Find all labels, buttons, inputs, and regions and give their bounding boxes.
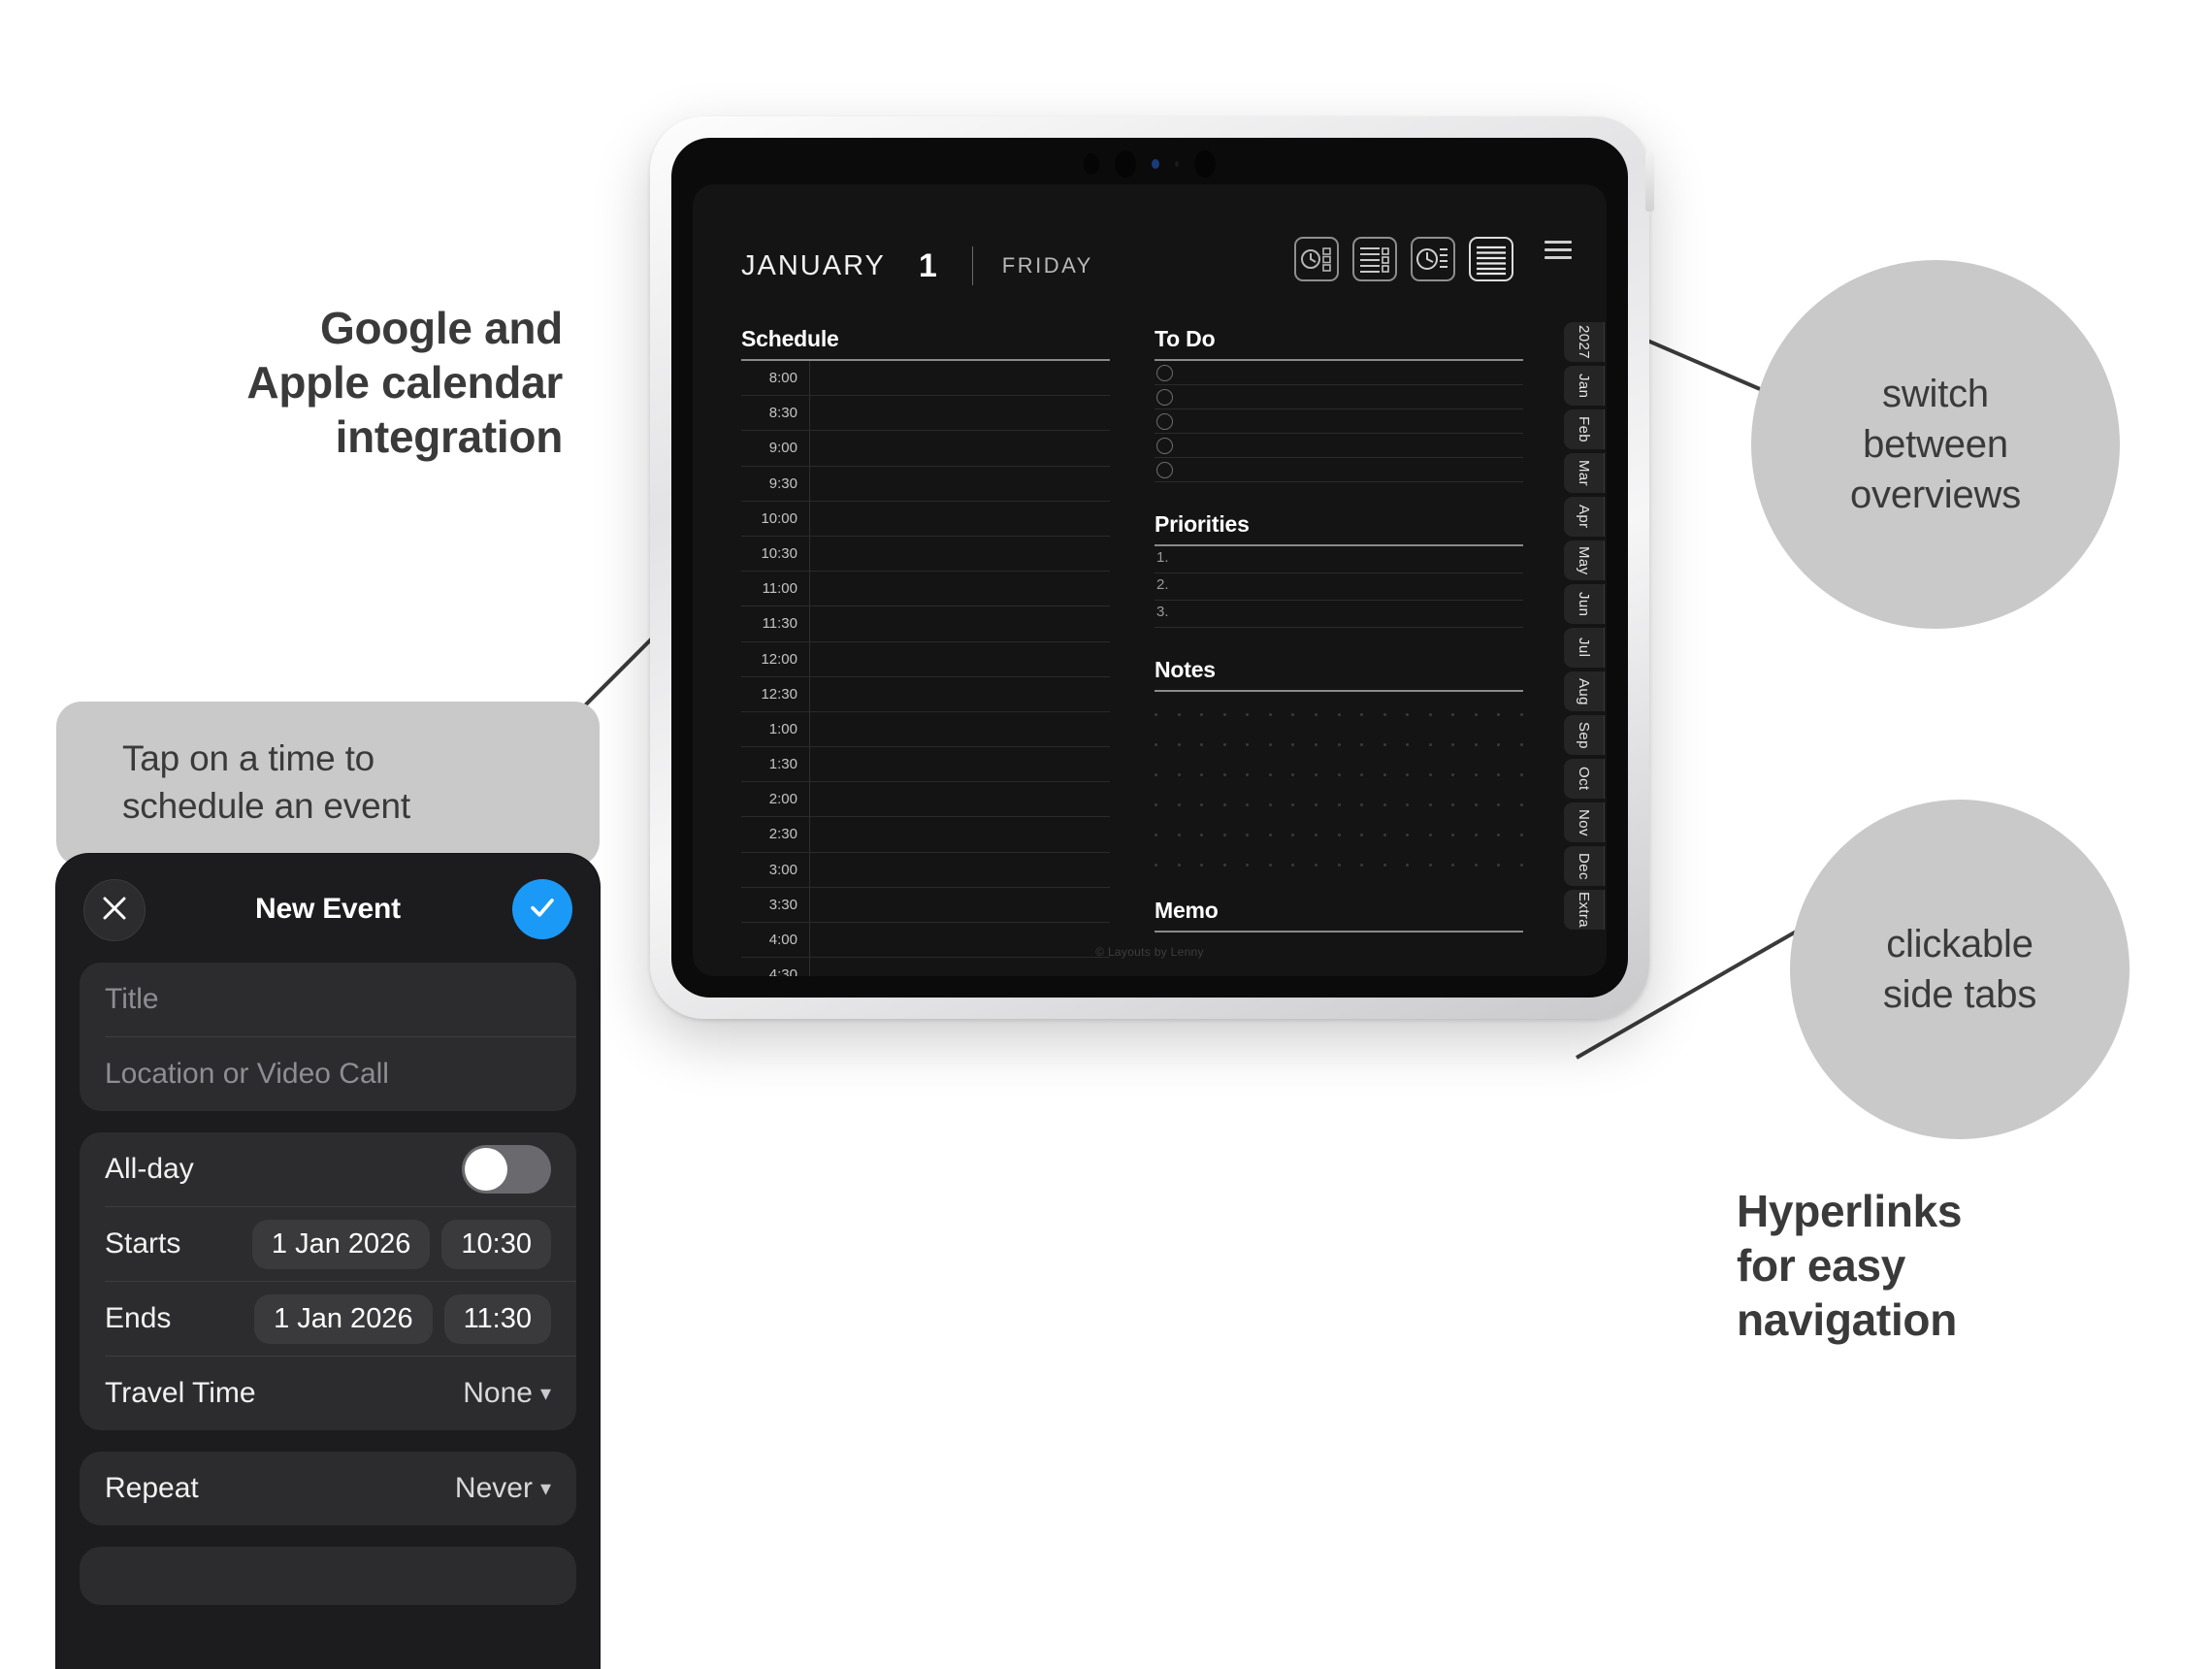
grid-dot	[1246, 773, 1249, 776]
side-tab-feb[interactable]: Feb	[1564, 409, 1605, 449]
grid-dot	[1429, 834, 1432, 836]
hamburger-menu-icon[interactable]	[1545, 241, 1572, 264]
repeat-label: Repeat	[105, 1472, 199, 1505]
schedule-row[interactable]: 2:30	[741, 817, 1110, 852]
starts-date-chip[interactable]: 1 Jan 2026	[252, 1220, 431, 1269]
all-day-row[interactable]: All-day	[80, 1132, 576, 1206]
grid-dot	[1155, 803, 1157, 806]
new-event-sheet: New Event Title Location or Video Call A…	[56, 854, 600, 1669]
all-day-label: All-day	[105, 1153, 194, 1186]
divider	[809, 606, 810, 640]
grid-dot	[1338, 713, 1341, 716]
schedule-row[interactable]: 11:30	[741, 606, 1110, 641]
grid-dot	[1383, 713, 1386, 716]
camera-lens-icon	[1194, 150, 1216, 178]
callout-tap-on-time-text: Tap on a time to schedule an event	[122, 735, 600, 830]
schedule-row[interactable]: 3:30	[741, 888, 1110, 923]
grid-dot	[1178, 743, 1181, 746]
schedule-title: Schedule	[741, 326, 1110, 352]
camera-lens-icon	[1115, 150, 1136, 178]
grid-dot	[1429, 803, 1432, 806]
memo-section: Memo	[1155, 898, 1523, 976]
schedule-time-label: 12:30	[741, 686, 797, 703]
grid-dot	[1451, 713, 1454, 716]
travel-time-label: Travel Time	[105, 1377, 256, 1410]
grid-dot	[1475, 864, 1478, 867]
priority-row[interactable]: 3.	[1155, 601, 1523, 628]
divider	[809, 677, 810, 711]
camera-lens-icon	[1084, 153, 1099, 175]
schedule-row[interactable]: 2:00	[741, 782, 1110, 817]
toggle-knob	[465, 1148, 507, 1191]
divider	[809, 747, 810, 781]
lines-view-icon[interactable]	[1469, 237, 1513, 281]
side-tab-label: Sep	[1576, 722, 1592, 749]
todo-title: To Do	[1155, 326, 1523, 352]
grid-dot	[1178, 713, 1181, 716]
all-day-toggle[interactable]	[462, 1145, 551, 1194]
grid-dot	[1155, 773, 1157, 776]
schedule-time-label: 12:00	[741, 651, 797, 668]
divider	[809, 782, 810, 816]
checkbox-circle-icon[interactable]	[1156, 438, 1173, 454]
divider	[809, 431, 810, 465]
grid-dot	[1269, 834, 1272, 836]
divider	[809, 467, 810, 501]
schedule-time-label: 10:30	[741, 545, 797, 562]
grid-dot	[1178, 864, 1181, 867]
page-month: JANUARY	[741, 250, 886, 282]
page-footer: © Layouts by Lenny	[693, 945, 1607, 959]
schedule-time-label: 2:00	[741, 791, 797, 807]
schedule-time-label: 10:00	[741, 510, 797, 527]
grid-dot	[1338, 773, 1341, 776]
grid-dot	[1451, 773, 1454, 776]
location-input[interactable]: Location or Video Call	[80, 1037, 576, 1111]
schedule-row[interactable]: 4:30	[741, 958, 1110, 976]
todo-section: To Do	[1155, 326, 1523, 482]
side-tab-apr[interactable]: Apr	[1564, 497, 1605, 537]
grid-dot	[1200, 743, 1203, 746]
grid-dot	[1406, 743, 1409, 746]
side-tab-label: Mar	[1576, 460, 1592, 486]
side-tab-label: Aug	[1576, 678, 1592, 705]
grid-dot	[1291, 864, 1294, 867]
grid-dot	[1155, 864, 1157, 867]
grid-dot	[1520, 713, 1523, 716]
tablet-screen: JANUARY 1 FRIDAY	[671, 138, 1628, 998]
clock-lines-view-icon[interactable]	[1411, 237, 1455, 281]
headline-hyperlinks: Hyperlinks for easy navigation	[1737, 1184, 2183, 1347]
travel-time-text: None	[463, 1377, 533, 1410]
side-tab-2027[interactable]: 2027	[1564, 322, 1605, 362]
priority-number: 3.	[1156, 604, 1169, 620]
planner-page: JANUARY 1 FRIDAY	[693, 184, 1607, 976]
priority-number: 2.	[1156, 576, 1169, 593]
grid-dot	[1429, 773, 1432, 776]
grid-dot	[1315, 743, 1317, 746]
schedule-time-label: 9:30	[741, 475, 797, 492]
grid-dot	[1223, 713, 1226, 716]
side-tab-label: Extra	[1576, 892, 1592, 928]
dot-grid-row	[1155, 864, 1523, 867]
ends-label: Ends	[105, 1302, 171, 1335]
divider	[809, 888, 810, 922]
repeat-value[interactable]: Never ▾	[455, 1472, 551, 1505]
dot-grid-row	[1155, 773, 1523, 776]
grid-dot	[1223, 773, 1226, 776]
grid-dot	[1475, 803, 1478, 806]
checkbox-circle-icon[interactable]	[1156, 462, 1173, 478]
divider	[809, 853, 810, 887]
schedule-time-label: 4:30	[741, 966, 797, 976]
grid-dot	[1246, 713, 1249, 716]
divider	[809, 502, 810, 536]
schedule-time-label: 8:00	[741, 370, 797, 386]
side-tab-jan[interactable]: Jan	[1564, 366, 1605, 406]
divider	[809, 361, 810, 395]
schedule-row[interactable]: 3:00	[741, 853, 1110, 888]
grid-dot	[1360, 803, 1363, 806]
divider	[809, 642, 810, 676]
divider	[809, 537, 810, 571]
divider	[1155, 690, 1523, 692]
side-tab-label: May	[1576, 546, 1592, 575]
side-tab-strip: 2027JanFebMarAprMayJunJulAugSepOctNovDec…	[1564, 322, 1605, 930]
grid-dot	[1178, 834, 1181, 836]
grid-dot	[1246, 803, 1249, 806]
grid-dot	[1315, 713, 1317, 716]
travel-time-value[interactable]: None ▾	[463, 1377, 551, 1410]
grid-dot	[1360, 834, 1363, 836]
schedule-row[interactable]: 9:30	[741, 467, 1110, 502]
notes-title: Notes	[1155, 657, 1523, 683]
divider	[809, 712, 810, 746]
schedule-time-label: 3:00	[741, 862, 797, 878]
promo-canvas: Google and Apple calendar integration Ta…	[0, 0, 2212, 1659]
notes-section: Notes	[1155, 657, 1523, 898]
priorities-section: Priorities 1.2.3.	[1155, 511, 1523, 628]
grid-dot	[1451, 864, 1454, 867]
repeat-row[interactable]: Repeat Never ▾	[80, 1452, 576, 1525]
grid-dot	[1223, 864, 1226, 867]
right-column: To Do Priorities 1.2.3. Notes	[1155, 326, 1523, 933]
clock-blocks-view-icon[interactable]	[1294, 237, 1339, 281]
callout-clickable-tabs: clickable side tabs	[1790, 800, 2130, 1139]
schedule-row[interactable]: 12:00	[741, 642, 1110, 677]
dot-grid-row	[1155, 743, 1523, 746]
grid-dot	[1178, 773, 1181, 776]
grid-dot	[1269, 773, 1272, 776]
todo-row[interactable]	[1155, 434, 1523, 458]
grid-dot	[1291, 803, 1294, 806]
grid-dot	[1475, 773, 1478, 776]
schedule-row[interactable]: 9:00	[741, 431, 1110, 466]
side-tab-label: Jun	[1576, 592, 1592, 616]
side-tab-label: 2027	[1576, 325, 1592, 359]
grid-dot	[1291, 713, 1294, 716]
side-tab-jun[interactable]: Jun	[1564, 584, 1605, 624]
page-weekday: FRIDAY	[1002, 253, 1093, 278]
grid-dot	[1497, 834, 1500, 836]
side-tab-nov[interactable]: Nov	[1564, 802, 1605, 842]
tablet-side-button[interactable]	[1645, 151, 1654, 212]
side-tab-extra[interactable]: Extra	[1564, 890, 1605, 930]
grid-dot	[1269, 864, 1272, 867]
grid-dot	[1475, 743, 1478, 746]
event-text-card: Title Location or Video Call	[80, 963, 576, 1111]
starts-row[interactable]: Starts 1 Jan 2026 10:30	[80, 1207, 576, 1281]
grid-dot	[1360, 773, 1363, 776]
title-input[interactable]: Title	[80, 963, 576, 1036]
checklist-view-icon[interactable]	[1352, 237, 1397, 281]
confirm-button[interactable]	[512, 879, 572, 939]
todo-row[interactable]	[1155, 409, 1523, 434]
grid-dot	[1520, 773, 1523, 776]
grid-dot	[1451, 803, 1454, 806]
grid-dot	[1200, 864, 1203, 867]
grid-dot	[1383, 864, 1386, 867]
starts-label: Starts	[105, 1227, 180, 1260]
schedule-time-label: 1:00	[741, 721, 797, 737]
grid-dot	[1520, 803, 1523, 806]
grid-dot	[1338, 834, 1341, 836]
schedule-row[interactable]: 8:30	[741, 396, 1110, 431]
grid-dot	[1429, 713, 1432, 716]
grid-dot	[1338, 864, 1341, 867]
starts-time-chip[interactable]: 10:30	[441, 1220, 551, 1269]
grid-dot	[1291, 773, 1294, 776]
side-tab-aug[interactable]: Aug	[1564, 671, 1605, 711]
grid-dot	[1406, 713, 1409, 716]
side-tab-mar[interactable]: Mar	[1564, 453, 1605, 493]
event-time-card: All-day Starts 1 Jan 2026 10:30 Ends 1 J…	[80, 1132, 576, 1430]
travel-time-row[interactable]: Travel Time None ▾	[80, 1357, 576, 1430]
sensor-icon	[1152, 159, 1159, 169]
dot-grid-row	[1155, 713, 1523, 716]
side-tab-label: Oct	[1576, 767, 1592, 791]
grid-dot	[1200, 834, 1203, 836]
side-tab-may[interactable]: May	[1564, 540, 1605, 580]
divider	[809, 958, 810, 976]
grid-dot	[1497, 713, 1500, 716]
schedule-time-label: 2:30	[741, 826, 797, 842]
priority-row[interactable]: 1.	[1155, 546, 1523, 573]
schedule-row[interactable]: 1:00	[741, 712, 1110, 747]
repeat-value-text: Never	[455, 1472, 533, 1505]
grid-dot	[1406, 773, 1409, 776]
grid-dot	[1200, 773, 1203, 776]
grid-dot	[1360, 713, 1363, 716]
todo-rows	[1155, 361, 1523, 482]
event-extra-card	[80, 1547, 576, 1605]
schedule-row[interactable]: 1:30	[741, 747, 1110, 782]
schedule-time-label: 9:00	[741, 440, 797, 456]
side-tab-dec[interactable]: Dec	[1564, 846, 1605, 886]
grid-dot	[1246, 834, 1249, 836]
grid-dot	[1315, 834, 1317, 836]
grid-dot	[1200, 713, 1203, 716]
grid-dot	[1155, 834, 1157, 836]
check-icon	[526, 891, 559, 929]
grid-dot	[1383, 834, 1386, 836]
schedule-time-label: 3:30	[741, 897, 797, 913]
page-day: 1	[919, 247, 937, 285]
grid-dot	[1406, 864, 1409, 867]
grid-dot	[1315, 864, 1317, 867]
priority-rows: 1.2.3.	[1155, 546, 1523, 628]
grid-dot	[1223, 834, 1226, 836]
todo-row[interactable]	[1155, 361, 1523, 385]
grid-dot	[1475, 834, 1478, 836]
side-tab-sep[interactable]: Sep	[1564, 715, 1605, 755]
side-tab-label: Feb	[1576, 416, 1592, 442]
checkbox-circle-icon[interactable]	[1156, 389, 1173, 406]
callout-tap-on-time: Tap on a time to schedule an event	[56, 702, 600, 867]
side-tab-label: Apr	[1576, 505, 1592, 529]
grid-dot	[1383, 803, 1386, 806]
grid-dot	[1451, 743, 1454, 746]
schedule-row[interactable]: 8:00	[741, 361, 1110, 396]
grid-dot	[1497, 803, 1500, 806]
side-tab-label: Nov	[1576, 809, 1592, 836]
grid-dot	[1246, 743, 1249, 746]
side-tab-oct[interactable]: Oct	[1564, 759, 1605, 799]
grid-dot	[1429, 864, 1432, 867]
grid-dot	[1269, 743, 1272, 746]
side-tab-label: Jul	[1576, 638, 1592, 657]
side-tab-label: Jan	[1576, 374, 1592, 398]
grid-dot	[1178, 803, 1181, 806]
grid-dot	[1520, 743, 1523, 746]
grid-dot	[1451, 834, 1454, 836]
headline-google-apple: Google and Apple calendar integration	[97, 301, 563, 464]
camera-array	[671, 151, 1628, 177]
callout-clickable-tabs-text: clickable side tabs	[1883, 919, 2036, 1020]
grid-dot	[1155, 743, 1157, 746]
dot-grid-row	[1155, 834, 1523, 836]
grid-dot	[1246, 864, 1249, 867]
ends-date-chip[interactable]: 1 Jan 2026	[254, 1294, 433, 1344]
tablet-device: JANUARY 1 FRIDAY	[650, 116, 1649, 1019]
grid-dot	[1429, 743, 1432, 746]
dot-grid-row	[1155, 803, 1523, 806]
grid-dot	[1338, 743, 1341, 746]
grid-dot	[1406, 834, 1409, 836]
grid-dot	[1291, 834, 1294, 836]
grid-dot	[1200, 803, 1203, 806]
grid-dot	[1475, 713, 1478, 716]
grid-dot	[1497, 773, 1500, 776]
divider	[809, 817, 810, 851]
ends-row[interactable]: Ends 1 Jan 2026 11:30	[80, 1282, 576, 1356]
grid-dot	[1291, 743, 1294, 746]
grid-dot	[1223, 803, 1226, 806]
schedule-section: Schedule 8:008:309:009:3010:0010:3011:00…	[741, 326, 1110, 933]
memo-title: Memo	[1155, 898, 1523, 924]
grid-dot	[1497, 864, 1500, 867]
chevron-updown-icon: ▾	[540, 1482, 551, 1495]
grid-dot	[1338, 803, 1341, 806]
new-event-header: New Event	[56, 854, 600, 963]
schedule-time-label: 1:30	[741, 756, 797, 772]
divider	[809, 396, 810, 430]
chevron-updown-icon: ▾	[540, 1387, 551, 1400]
sensor-icon	[1175, 161, 1179, 167]
grid-dot	[1520, 864, 1523, 867]
schedule-time-label: 11:00	[741, 580, 797, 597]
side-tab-jul[interactable]: Jul	[1564, 628, 1605, 668]
todo-row[interactable]	[1155, 458, 1523, 482]
event-repeat-card: Repeat Never ▾	[80, 1452, 576, 1525]
grid-dot	[1315, 773, 1317, 776]
grid-dot	[1360, 743, 1363, 746]
schedule-row[interactable]: 11:00	[741, 572, 1110, 606]
grid-dot	[1383, 773, 1386, 776]
grid-dot	[1497, 743, 1500, 746]
priority-row[interactable]: 2.	[1155, 573, 1523, 601]
schedule-time-label: 8:30	[741, 405, 797, 421]
checkbox-circle-icon[interactable]	[1156, 413, 1173, 430]
schedule-row[interactable]: 10:30	[741, 537, 1110, 572]
schedule-rows: 8:008:309:009:3010:0010:3011:0011:3012:0…	[741, 361, 1110, 976]
grid-dot	[1360, 864, 1363, 867]
schedule-row[interactable]: 12:30	[741, 677, 1110, 712]
side-tab-label: Dec	[1576, 853, 1592, 880]
grid-dot	[1383, 743, 1386, 746]
priority-number: 1.	[1156, 549, 1169, 566]
todo-row[interactable]	[1155, 385, 1523, 409]
grid-dot	[1269, 803, 1272, 806]
checkbox-circle-icon[interactable]	[1156, 365, 1173, 381]
callout-switch-overviews: switch between overviews	[1751, 260, 2120, 629]
schedule-row[interactable]: 10:00	[741, 502, 1110, 537]
notes-dot-grid[interactable]	[1155, 713, 1523, 898]
grid-dot	[1155, 713, 1157, 716]
grid-dot	[1223, 743, 1226, 746]
callout-switch-overviews-text: switch between overviews	[1850, 369, 2021, 520]
grid-dot	[1269, 713, 1272, 716]
divider	[809, 572, 810, 605]
priorities-title: Priorities	[1155, 511, 1523, 538]
view-switcher	[1294, 237, 1513, 281]
grid-dot	[1315, 803, 1317, 806]
divider	[972, 246, 973, 285]
grid-dot	[1520, 834, 1523, 836]
schedule-time-label: 11:30	[741, 615, 797, 632]
ends-time-chip[interactable]: 11:30	[444, 1294, 551, 1344]
grid-dot	[1406, 803, 1409, 806]
